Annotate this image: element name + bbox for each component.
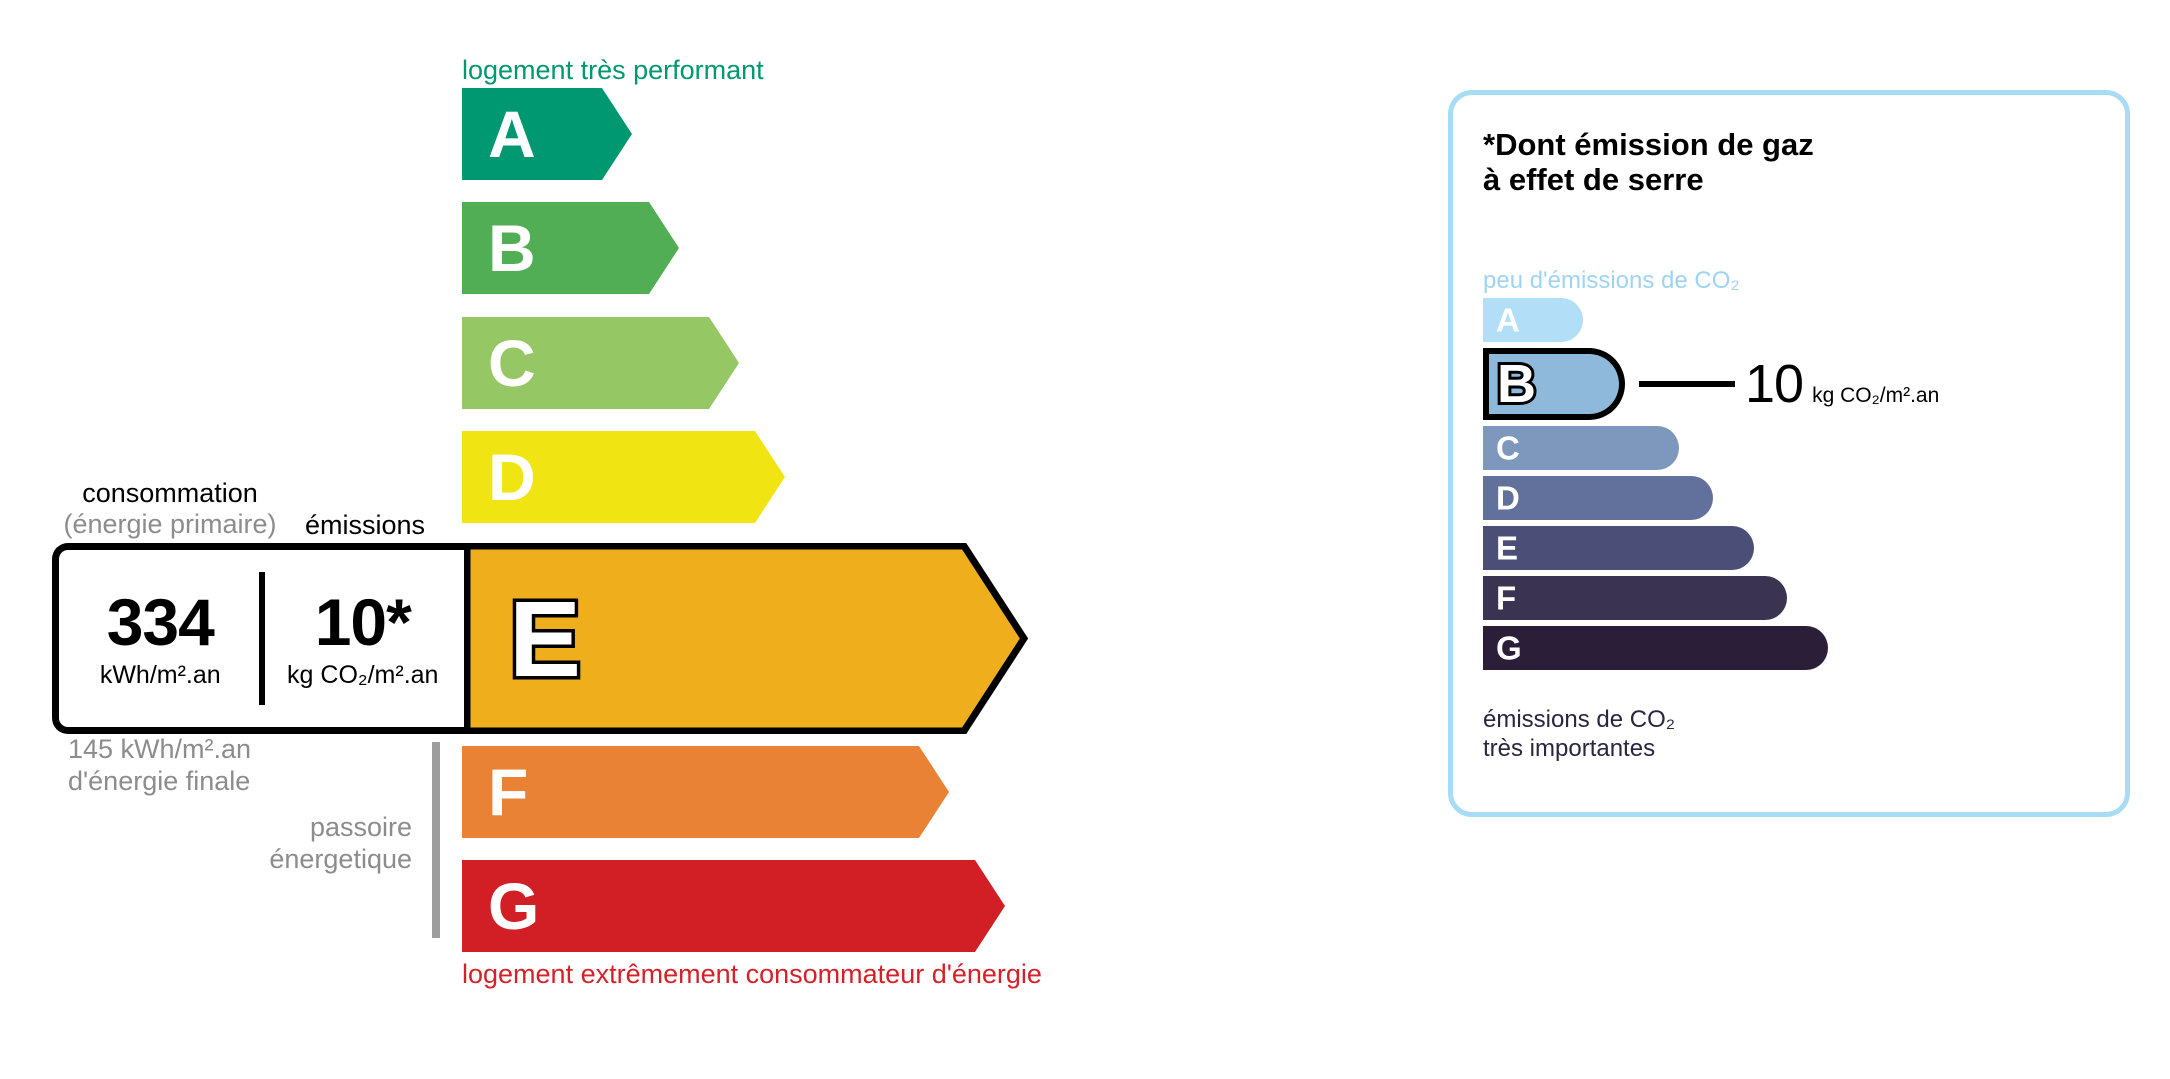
co2-bar-f xyxy=(1483,576,1787,620)
energy-class-letter-d: D xyxy=(488,444,536,510)
energy-arrow-f: F xyxy=(462,746,949,838)
co2-bottom-caption-line2: très importantes xyxy=(1483,735,1675,764)
co2-letter-b: B xyxy=(1497,357,1536,411)
co2-panel-title: *Dont émission de gaz à effet de serre xyxy=(1483,127,1814,198)
emission-value: 10* xyxy=(262,589,465,655)
label-energie-primaire: (énergie primaire) xyxy=(55,509,285,540)
co2-row-f: F xyxy=(1483,576,2083,620)
energy-class-row-b: B xyxy=(462,202,679,294)
emission-unit: kg CO₂/m².an xyxy=(262,663,465,688)
co2-bottom-caption: émissions de CO₂ très importantes xyxy=(1483,706,1675,764)
co2-row-b-selected: B 10 kg CO₂/m².an xyxy=(1483,348,2083,420)
energy-class-letter-f: F xyxy=(488,759,528,825)
co2-value-unit: kg CO₂/m².an xyxy=(1812,384,1939,408)
energy-class-row-c: C xyxy=(462,317,739,409)
co2-value: 10 xyxy=(1745,357,1803,411)
note-passoire-line1: passoire xyxy=(200,812,412,844)
co2-letter-e: E xyxy=(1496,532,1518,565)
energy-class-row-g: G xyxy=(462,860,1005,952)
co2-letter-c: C xyxy=(1496,432,1520,465)
energy-class-letter-b: B xyxy=(488,215,536,281)
co2-panel-title-line2: à effet de serre xyxy=(1483,162,1814,197)
energy-performance-diagram: logement très performant A B C xyxy=(0,0,1400,1079)
label-consommation: consommation (énergie primaire) xyxy=(55,478,285,540)
note-final-energy-line2: d'énergie finale xyxy=(68,766,251,798)
co2-bar-e xyxy=(1483,526,1754,570)
energy-class-letter-e: E xyxy=(509,585,581,693)
energy-class-row-d: D xyxy=(462,431,785,523)
co2-emissions-panel: *Dont émission de gaz à effet de serre p… xyxy=(1448,90,2130,817)
energy-class-letter-g: G xyxy=(488,873,539,939)
energy-top-caption: logement très performant xyxy=(462,55,764,86)
co2-panel-title-line1: *Dont émission de gaz xyxy=(1483,127,1814,162)
energy-class-letter-c: C xyxy=(488,330,536,396)
note-passoire-line2: énergetique xyxy=(200,844,412,876)
energy-arrow-g: G xyxy=(462,860,1005,952)
note-final-energy-line1: 145 kWh/m².an xyxy=(68,734,251,766)
consumption-unit: kWh/m².an xyxy=(59,663,262,688)
co2-letter-a: A xyxy=(1496,304,1520,337)
co2-bar-g xyxy=(1483,626,1828,670)
value-box: 334 kWh/m².an 10* kg CO₂/m².an xyxy=(52,543,464,734)
note-passoire-energetique: passoire énergetique xyxy=(200,812,412,876)
energy-arrow-d: D xyxy=(462,431,785,523)
co2-top-caption: peu d'émissions de CO₂ xyxy=(1483,267,1740,295)
emission-cell: 10* kg CO₂/m².an xyxy=(262,589,465,688)
co2-value-group: 10 kg CO₂/m².an xyxy=(1745,357,1939,411)
co2-connector-line xyxy=(1639,381,1735,387)
consumption-cell: 334 kWh/m².an xyxy=(59,589,262,688)
co2-bottom-caption-line1: émissions de CO₂ xyxy=(1483,706,1675,735)
energy-arrow-c: C xyxy=(462,317,739,409)
consumption-value: 334 xyxy=(59,589,262,655)
energy-arrow-b: B xyxy=(462,202,679,294)
co2-row-a: A xyxy=(1483,298,2083,342)
co2-row-g: G xyxy=(1483,626,2083,670)
energy-class-row-a: A xyxy=(462,88,632,180)
co2-row-d: D xyxy=(1483,476,2083,520)
energy-class-row-f: F xyxy=(462,746,949,838)
co2-row-e: E xyxy=(1483,526,2083,570)
energy-arrow-a: A xyxy=(462,88,632,180)
energy-class-row-e-selected: 334 kWh/m².an 10* kg CO₂/m².an E xyxy=(52,543,1028,734)
energy-arrow-e: E xyxy=(464,543,1028,734)
label-emissions: émissions xyxy=(305,510,425,541)
note-final-energy: 145 kWh/m².an d'énergie finale xyxy=(68,734,251,798)
co2-letter-g: G xyxy=(1496,632,1522,665)
energy-class-letter-a: A xyxy=(488,101,536,167)
co2-letter-d: D xyxy=(1496,482,1520,515)
passoire-divider-rule xyxy=(432,742,440,938)
energy-bottom-caption: logement extrêmement consommateur d'éner… xyxy=(462,959,1042,990)
co2-row-c: C xyxy=(1483,426,2083,470)
co2-bar-list: A B 10 kg CO₂/m².an C D E F xyxy=(1483,298,2083,676)
co2-letter-f: F xyxy=(1496,582,1516,615)
label-consommation-text: consommation xyxy=(55,478,285,509)
